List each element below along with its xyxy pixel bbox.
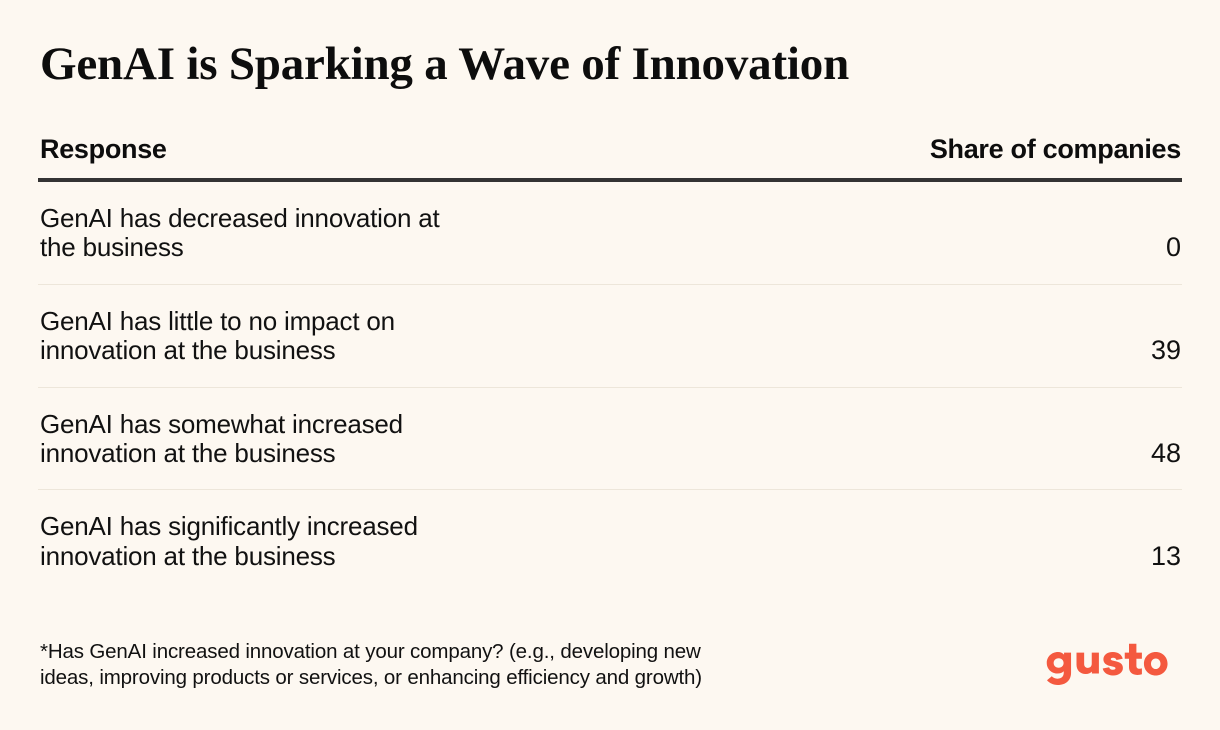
response-share-table: Response Share of companies GenAI has de… [38,134,1182,592]
table-row: GenAI has somewhat increased innovation … [38,387,1182,490]
cell-response: GenAI has significantly increased innova… [38,490,610,592]
footnote-line-1: *Has GenAI increased innovation at your … [40,639,702,665]
cell-response: GenAI has little to no impact on innovat… [38,284,610,387]
cell-response: GenAI has decreased innovation at the bu… [38,180,610,284]
response-line-1: GenAI has somewhat increased [40,410,610,439]
cell-share-value: 0 [610,180,1182,284]
footnote-line-2: ideas, improving products or services, o… [40,665,702,691]
response-line-2: innovation at the business [40,542,610,571]
table-row: GenAI has significantly increased innova… [38,490,1182,592]
gusto-wordmark-logo [1040,637,1182,691]
response-line-1: GenAI has decreased innovation at [40,204,610,233]
response-line-1: GenAI has little to no impact on [40,307,610,336]
cell-response: GenAI has somewhat increased innovation … [38,387,610,490]
cell-share-value: 48 [610,387,1182,490]
footer: *Has GenAI increased innovation at your … [38,637,1182,691]
table-row: GenAI has little to no impact on innovat… [38,284,1182,387]
table-body: GenAI has decreased innovation at the bu… [38,180,1182,592]
table-row: GenAI has decreased innovation at the bu… [38,180,1182,284]
column-header-response: Response [38,134,610,180]
cell-share-value: 13 [610,490,1182,592]
page-title: GenAI is Sparking a Wave of Innovation [40,0,1182,88]
response-line-1: GenAI has significantly increased [40,512,610,541]
table-header-row: Response Share of companies [38,134,1182,180]
table-header: Response Share of companies [38,134,1182,180]
response-line-2: the business [40,233,610,262]
infographic-card: GenAI is Sparking a Wave of Innovation R… [0,0,1220,730]
footnote: *Has GenAI increased innovation at your … [40,639,702,691]
response-line-2: innovation at the business [40,336,610,365]
response-line-2: innovation at the business [40,439,610,468]
cell-share-value: 39 [610,284,1182,387]
column-header-share: Share of companies [610,134,1182,180]
